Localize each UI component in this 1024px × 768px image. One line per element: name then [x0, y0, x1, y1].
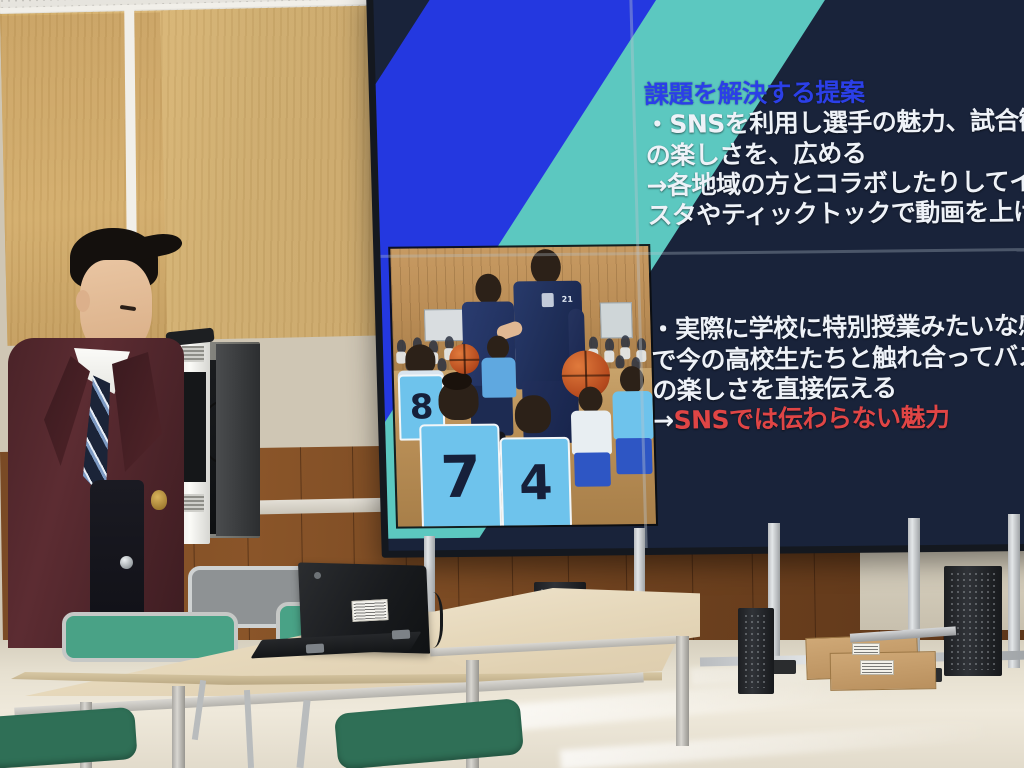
arrow-icon: →: [653, 406, 674, 435]
presenter: [8, 228, 208, 648]
slide-body-line: ・実際に学校に特別授業みたいな感じ: [650, 311, 1024, 346]
laptop-logo-icon: [314, 572, 321, 579]
slide-body-line: の楽しさを、広める: [645, 136, 1024, 171]
child-player: [612, 366, 656, 516]
child-player: [481, 335, 517, 405]
presentation-room-photo: 21: [0, 0, 1024, 768]
slide-body-line: の楽しさを直接伝える: [652, 371, 1024, 406]
child-player: [570, 386, 614, 516]
chair-seat: [0, 707, 138, 768]
slide-conclusion-text: SNSでは伝わらない魅力: [673, 403, 950, 435]
child-bib-4: 4: [500, 437, 573, 527]
table-leg: [172, 686, 185, 768]
child-bib-7: 7: [419, 424, 502, 527]
table-leg: [676, 636, 689, 746]
box-label: [860, 660, 894, 675]
presenter-ear: [76, 290, 90, 312]
chair-backrest: [62, 612, 238, 662]
slide-embedded-photo: 21: [390, 246, 656, 527]
slide-body-line: で今の高校生たちと触れ合ってバスケ: [651, 341, 1024, 376]
laptop-hinge-foot: [306, 644, 324, 654]
speaker-tower: [738, 608, 774, 694]
slide-text-block: 課題を解決する提案 ・SNSを利用し選手の魅力、試合観戦 の楽しさを、広める →…: [644, 76, 1024, 437]
speaker-tower: [944, 566, 1002, 676]
laptop-cable: [418, 592, 443, 648]
presenter-blazer-emblem: [151, 490, 167, 510]
rack-side-panel: [216, 344, 260, 536]
basketball: [449, 344, 480, 374]
slide-body-line: →各地域の方とコラボしたりしてイン: [646, 166, 1024, 201]
display-screen: 21: [373, 0, 1024, 551]
box-label: [852, 643, 880, 655]
slide-body-line: ・SNSを利用し選手の魅力、試合観戦: [644, 106, 1024, 141]
slide-conclusion-line: →SNSでは伝わらない魅力: [653, 402, 1024, 437]
laptop-asset-sticker: [351, 599, 388, 622]
video-wall-display[interactable]: 21: [366, 0, 1024, 558]
display-stand-post: [1008, 514, 1020, 668]
slide-title: 課題を解決する提案: [644, 76, 1024, 111]
presenter-blazer-button: [120, 556, 133, 569]
laptop-hinge-foot: [392, 630, 410, 640]
slide-body-line: スタやティックトックで動画を上げる: [647, 197, 1024, 232]
